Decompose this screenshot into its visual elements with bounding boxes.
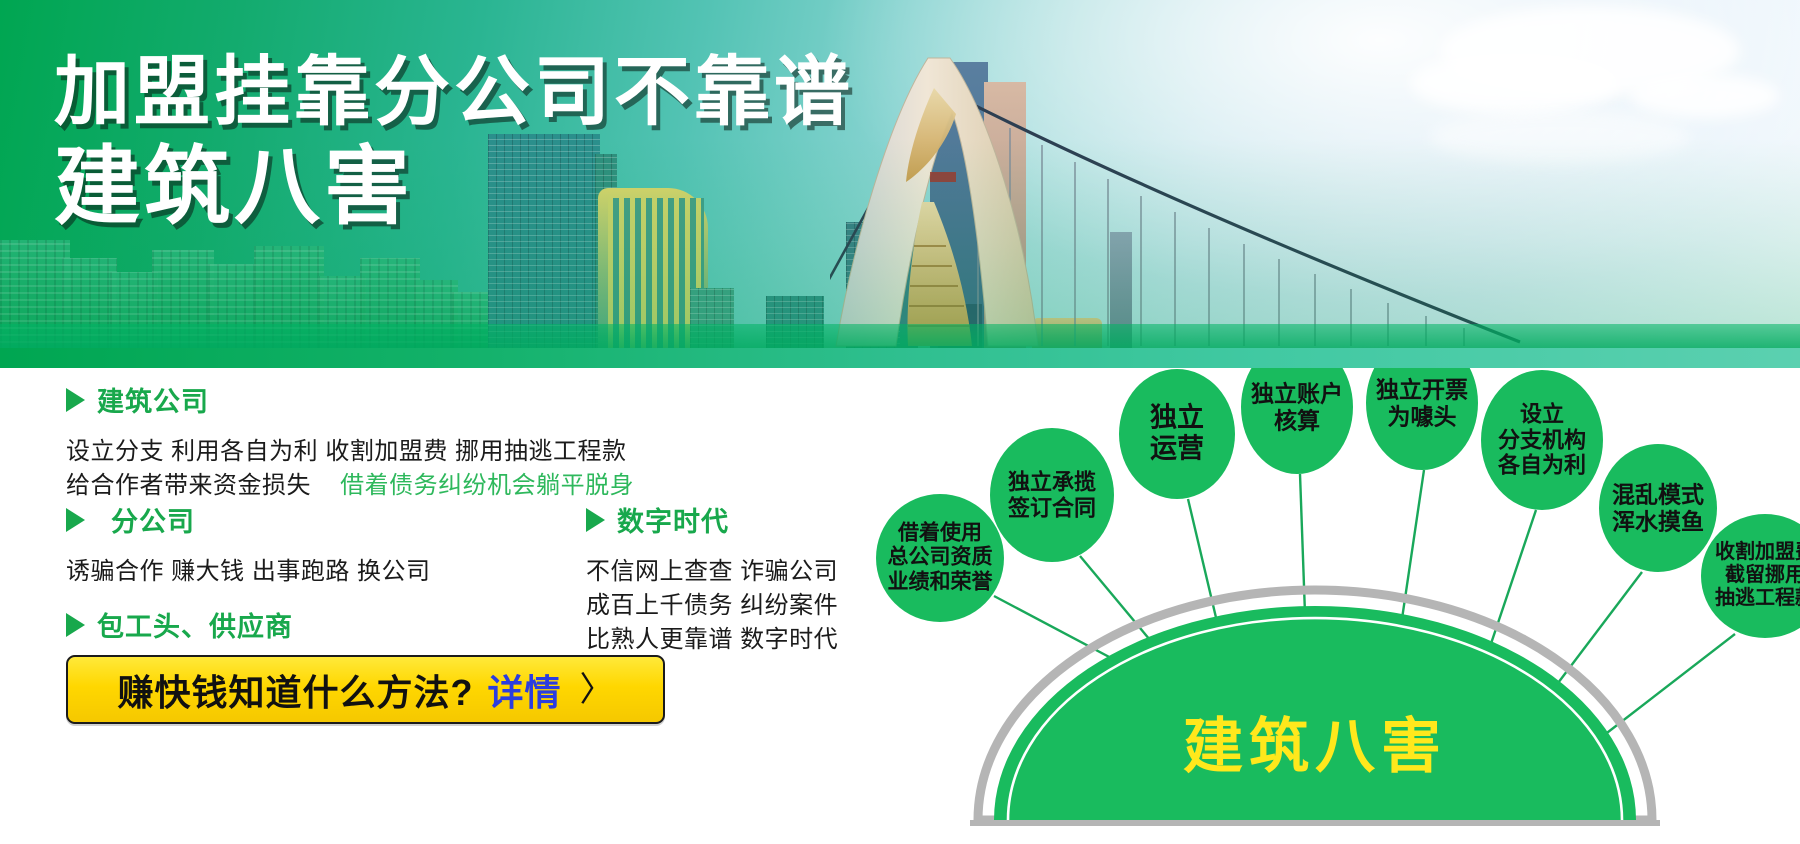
section-construction-company: 建筑公司 设立分支 利用各自为利 收割加盟费 挪用抽逃工程款 给合作者带来资金损… xyxy=(66,380,634,503)
hero-base-bar xyxy=(0,348,1800,368)
dome-center-label: 建筑八害 xyxy=(1183,698,1447,785)
section-header: 分公司 xyxy=(66,500,431,539)
hero-banner: 加盟挂靠分公司不靠谱 建筑八害 xyxy=(0,0,1800,368)
section-line-highlight: 借着债务纠纷机会躺平脱身 xyxy=(340,472,634,499)
section-body: 诱骗合作 赚大钱 出事跑路 换公司 xyxy=(66,555,431,589)
section-branch-company: 分公司 诱骗合作 赚大钱 出事跑路 换公司 xyxy=(66,500,431,589)
poster-root: 加盟挂靠分公司不靠谱 建筑八害 建筑公司 设立分支 利用各自为利 收割加盟费 挪… xyxy=(0,0,1800,844)
section-line: 比熟人更靠谱 数字时代 xyxy=(586,626,838,653)
section-line: 不信网上查查 诈骗公司 xyxy=(586,558,838,585)
section-title: 数字时代 xyxy=(617,500,729,539)
cta-button[interactable]: 赚快钱知道什么方法? 详情 〉 xyxy=(66,655,665,724)
section-digital-era: 数字时代 不信网上查查 诈骗公司 成百上千债务 纠纷案件 比熟人更靠谱 数字时代 xyxy=(586,500,838,657)
headline-line-1: 加盟挂靠分公司不靠谱 xyxy=(54,54,854,132)
cta-detail-link[interactable]: 详情 xyxy=(487,664,561,716)
triangle-bullet-icon xyxy=(586,508,605,532)
triangle-bullet-icon xyxy=(66,388,85,412)
bubble-shapes xyxy=(876,368,1800,638)
section-header: 数字时代 xyxy=(586,500,838,539)
section-header: 建筑公司 xyxy=(66,380,634,419)
chevron-right-icon: 〉 xyxy=(580,673,614,707)
cta-label: 赚快钱知道什么方法? xyxy=(117,664,473,716)
section-line: 成百上千债务 纠纷案件 xyxy=(586,592,838,619)
section-body: 不信网上查查 诈骗公司 成百上千债务 纠纷案件 比熟人更靠谱 数字时代 xyxy=(586,555,838,657)
section-line: 诱骗合作 赚大钱 出事跑路 换公司 xyxy=(66,558,431,585)
radial-diagram: 借着使用 总公司资质 业绩和荣誉 独立承揽 签订合同 独立 运营 独立账户 核算… xyxy=(830,368,1800,844)
section-title: 分公司 xyxy=(111,500,195,539)
triangle-bullet-icon xyxy=(66,613,85,637)
section-header: 包工头、供应商 xyxy=(66,605,448,644)
triangle-bullet-icon xyxy=(66,508,85,532)
section-line: 给合作者带来资金损失 xyxy=(66,472,311,499)
headline-line-2: 建筑八害 xyxy=(54,144,854,232)
dome-baseline xyxy=(970,820,1660,826)
hero-ground-strip xyxy=(0,324,1800,350)
section-body: 设立分支 利用各自为利 收割加盟费 挪用抽逃工程款 给合作者带来资金损失 借着债… xyxy=(66,435,634,503)
left-content-column: 建筑公司 设立分支 利用各自为利 收割加盟费 挪用抽逃工程款 给合作者带来资金损… xyxy=(0,380,840,844)
section-title: 建筑公司 xyxy=(97,380,209,419)
section-title: 包工头、供应商 xyxy=(97,605,293,644)
hero-title-block: 加盟挂靠分公司不靠谱 建筑八害 xyxy=(54,54,854,231)
section-line: 设立分支 利用各自为利 收割加盟费 挪用抽逃工程款 xyxy=(66,438,627,465)
